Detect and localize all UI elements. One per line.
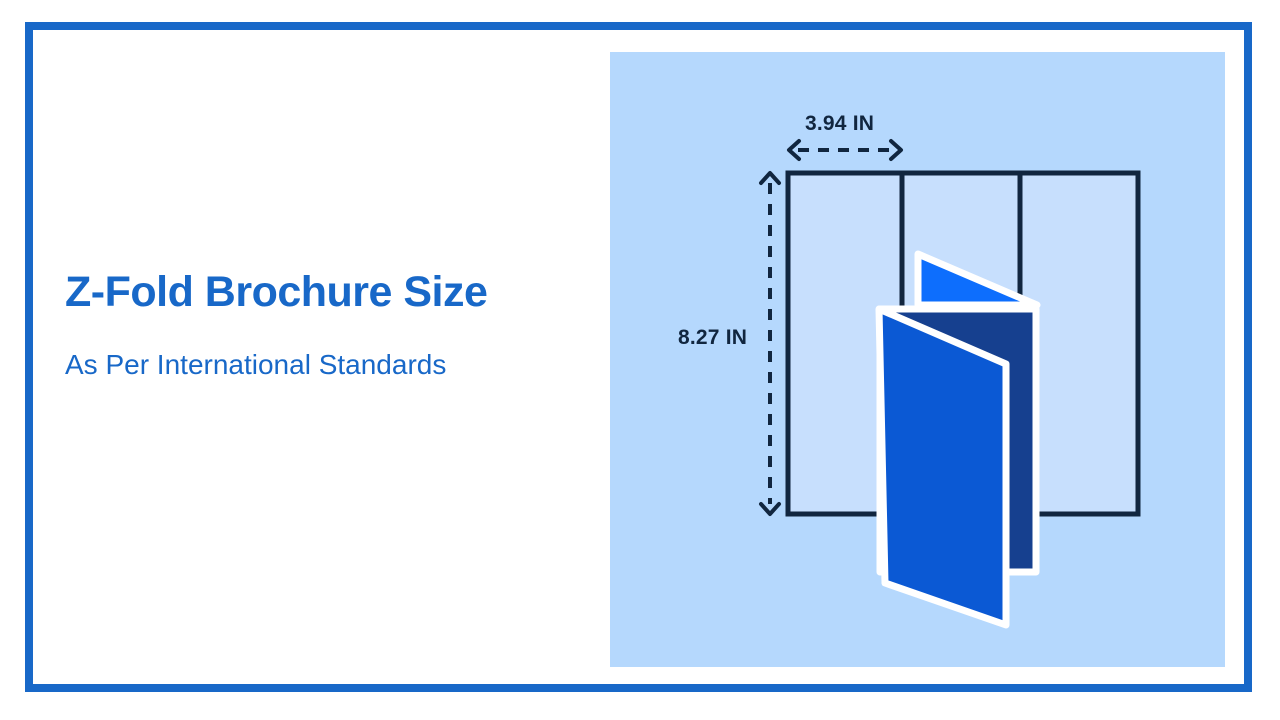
z-fold-brochure-diagram — [610, 52, 1225, 667]
illustration-panel: 3.94 IN 8.27 IN — [610, 52, 1225, 667]
page-subtitle: As Per International Standards — [65, 316, 585, 385]
height-dimension-label: 8.27 IN — [678, 326, 747, 350]
brochure-front-panel — [879, 309, 1006, 625]
height-arrow-icon — [761, 173, 779, 514]
text-block: Z-Fold Brochure Size As Per Internationa… — [65, 268, 585, 385]
height-arrow-head-bottom — [761, 504, 779, 514]
folded-brochure-3d — [879, 254, 1037, 625]
infographic-canvas: Z-Fold Brochure Size As Per Internationa… — [0, 0, 1280, 720]
width-dimension-label: 3.94 IN — [805, 112, 874, 136]
height-arrow-head-top — [761, 173, 779, 183]
width-arrow-head-right — [891, 141, 901, 159]
page-title: Z-Fold Brochure Size — [65, 268, 585, 316]
width-arrow-head-left — [789, 141, 799, 159]
width-arrow-icon — [789, 141, 901, 159]
